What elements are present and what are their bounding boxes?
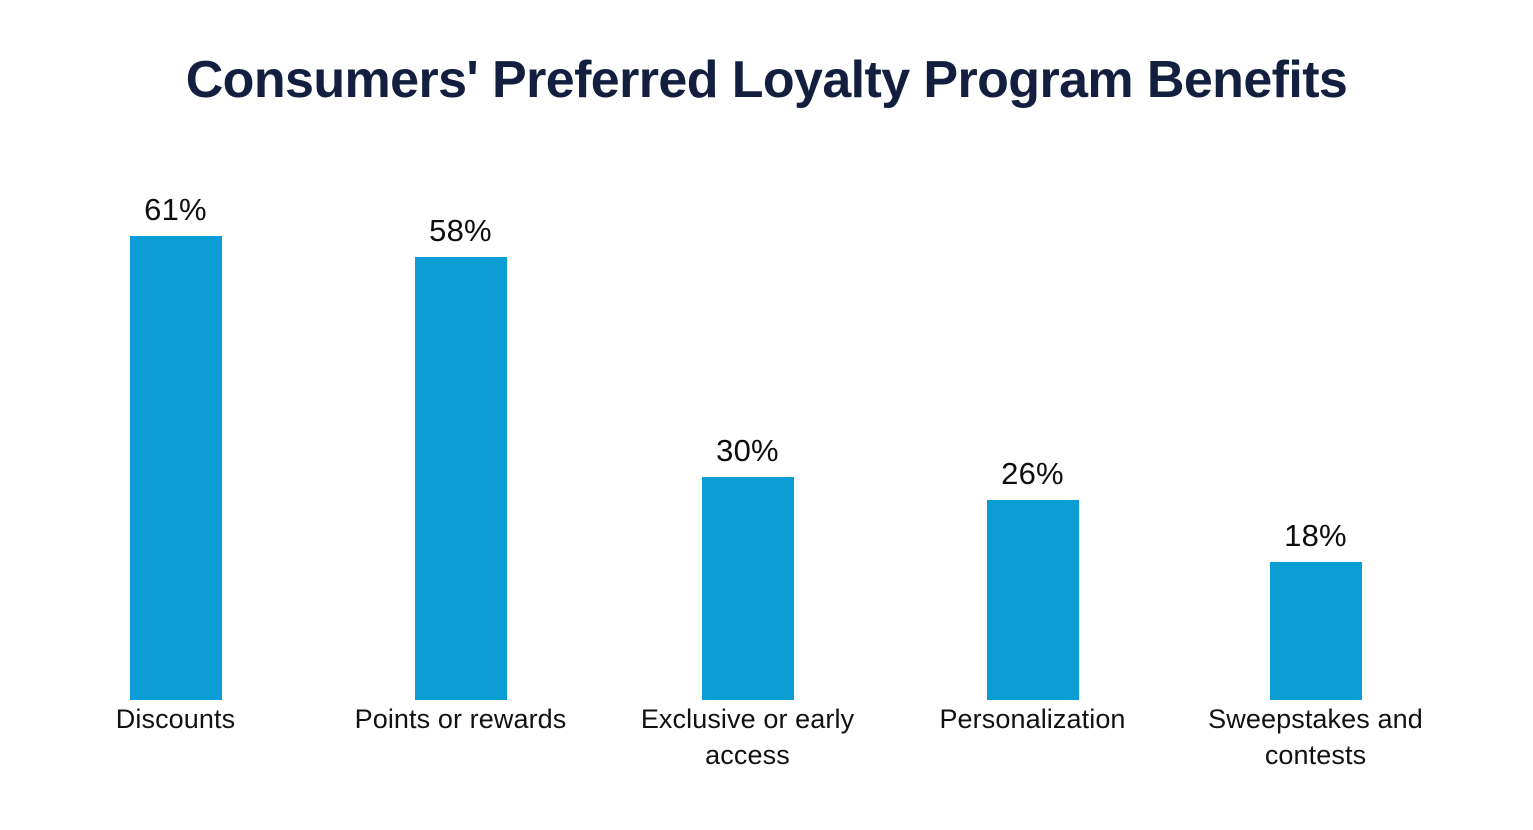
bar-rect[interactable]	[702, 477, 794, 700]
bar-column[interactable]: 58%	[415, 160, 507, 700]
category-label-exclusive-or-early-access: Exclusive or early access	[615, 702, 880, 773]
category-label-sweepstakes-and-contests: Sweepstakes and contests	[1183, 702, 1448, 773]
category-label-points-or-rewards: Points or rewards	[318, 702, 603, 738]
bar-rect[interactable]	[415, 257, 507, 700]
bar-column[interactable]: 26%	[987, 160, 1079, 700]
bar-value-label: 18%	[1284, 520, 1347, 551]
category-axis: Discounts Points or rewards Exclusive or…	[0, 702, 1533, 802]
category-label-personalization: Personalization	[890, 702, 1175, 738]
bar-rect[interactable]	[987, 500, 1079, 700]
plot-area: 61% 58% 30% 26% 18%	[0, 160, 1533, 700]
bar-value-label: 26%	[1001, 458, 1064, 489]
bar-group: 18%	[1173, 160, 1458, 700]
bar-group: 61%	[33, 160, 318, 700]
bar-group: 30%	[605, 160, 890, 700]
bar-value-label: 30%	[716, 435, 779, 466]
bar-chart-figure: Consumers' Preferred Loyalty Program Ben…	[0, 0, 1533, 830]
chart-title: Consumers' Preferred Loyalty Program Ben…	[0, 52, 1533, 108]
bar-group: 26%	[890, 160, 1175, 700]
bar-rect[interactable]	[1270, 562, 1362, 700]
bar-value-label: 61%	[144, 194, 207, 225]
bar-group: 58%	[318, 160, 603, 700]
bar-value-label: 58%	[429, 215, 492, 246]
bar-column[interactable]: 18%	[1270, 160, 1362, 700]
category-label-discounts: Discounts	[33, 702, 318, 738]
bar-rect[interactable]	[130, 236, 222, 700]
bar-column[interactable]: 61%	[130, 160, 222, 700]
bar-column[interactable]: 30%	[702, 160, 794, 700]
